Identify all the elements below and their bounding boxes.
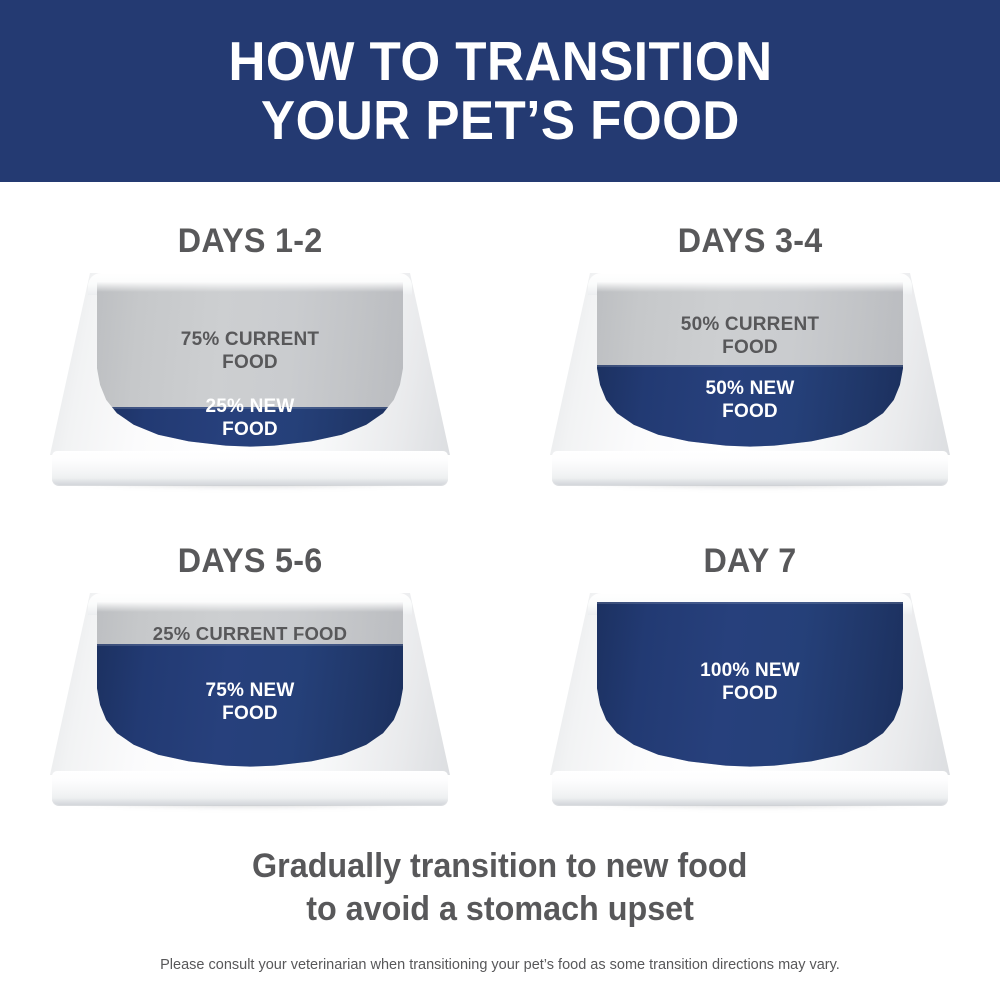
bowl-cavity [97,282,403,448]
bowl-cavity [597,602,903,768]
bowl-base [552,771,948,805]
bowl-cavity [97,602,403,768]
bowl-base [52,771,448,805]
footer: Gradually transition to new food to avoi… [0,845,1000,975]
stage-label-days-3-4: DAYS 3-4 [678,224,823,258]
infographic-page: HOW TO TRANSITION YOUR PET’S FOOD DAYS 1… [0,0,1000,1000]
cavity-rim-highlight [97,602,403,612]
stage-panel-day-7: DAY 7 100% NEW FOOD [500,502,1000,822]
header-title-line-2: YOUR PET’S FOOD [261,91,740,150]
bowl-day-7: 100% NEW FOOD [550,593,950,805]
bowl-base [52,451,448,485]
bowl-base [552,451,948,485]
tagline-line-1: Gradually transition to new food [252,845,747,888]
bowl-days-5-6: 25% CURRENT FOOD 75% NEW FOOD [50,593,450,805]
disclaimer-text: Please consult your veterinarian when tr… [160,956,840,975]
cavity-rim-highlight [97,282,403,292]
stage-label-day-7: DAY 7 [703,544,796,578]
header-banner: HOW TO TRANSITION YOUR PET’S FOOD [0,0,1000,182]
new-food-fill [597,602,903,768]
stage-label-days-5-6: DAYS 5-6 [178,544,323,578]
cavity-rim-highlight [597,282,903,292]
tagline-line-2: to avoid a stomach upset [306,888,694,931]
bowl-cavity [597,282,903,448]
stage-panel-days-3-4: DAYS 3-4 50% CURRENT FOOD 50% NEW FOOD [500,182,1000,502]
bowl-days-1-2: 75% CURRENT FOOD 25% NEW FOOD [50,273,450,485]
transition-stages-grid: DAYS 1-2 75% CURRENT FOOD 25% NEW FOOD [0,182,1000,842]
stage-label-days-1-2: DAYS 1-2 [178,224,323,258]
header-title-line-1: HOW TO TRANSITION [228,32,772,91]
bowl-days-3-4: 50% CURRENT FOOD 50% NEW FOOD [550,273,950,485]
stage-panel-days-1-2: DAYS 1-2 75% CURRENT FOOD 25% NEW FOOD [0,182,500,502]
stage-panel-days-5-6: DAYS 5-6 25% CURRENT FOOD 75% NEW FOOD [0,502,500,822]
